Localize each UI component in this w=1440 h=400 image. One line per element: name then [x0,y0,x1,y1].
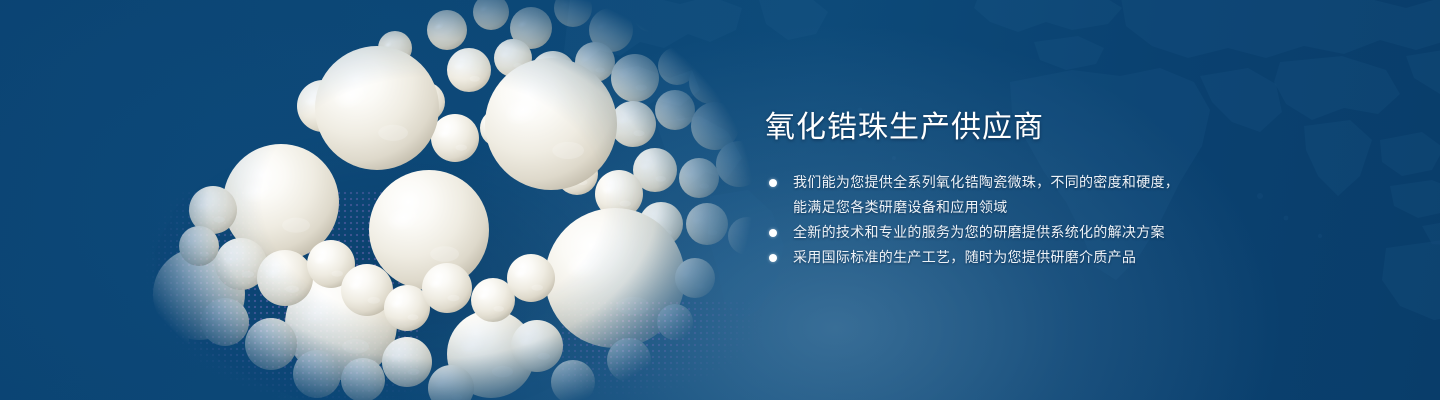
banner-copy: 氧化锆珠生产供应商 我们能为您提供全系列氧化锆陶瓷微珠，不同的密度和硬度， 能满… [765,108,1385,270]
bullet-line-2: 能满足您各类研磨设备和应用领域 [793,195,1385,220]
list-item: 采用国际标准的生产工艺，随时为您提供研磨介质产品 [765,245,1385,270]
bullet-dot-icon [769,254,777,262]
hero-banner: 氧化锆珠生产供应商 我们能为您提供全系列氧化锆陶瓷微珠，不同的密度和硬度， 能满… [0,0,1440,400]
bullet-dot-icon [769,179,777,187]
bullet-line-1: 我们能为您提供全系列氧化锆陶瓷微珠，不同的密度和硬度， [793,174,1179,190]
zirconia-beads-image [95,0,815,400]
list-item: 全新的技术和专业的服务为您的研磨提供系统化的解决方案 [765,220,1385,245]
bullet-line-1: 采用国际标准的生产工艺，随时为您提供研磨介质产品 [793,249,1136,265]
banner-headline: 氧化锆珠生产供应商 [765,108,1385,148]
bullet-dot-icon [769,229,777,237]
benefits-list: 我们能为您提供全系列氧化锆陶瓷微珠，不同的密度和硬度， 能满足您各类研磨设备和应… [765,170,1385,270]
bullet-line-1: 全新的技术和专业的服务为您的研磨提供系统化的解决方案 [793,224,1165,240]
list-item: 我们能为您提供全系列氧化锆陶瓷微珠，不同的密度和硬度， 能满足您各类研磨设备和应… [765,170,1385,220]
